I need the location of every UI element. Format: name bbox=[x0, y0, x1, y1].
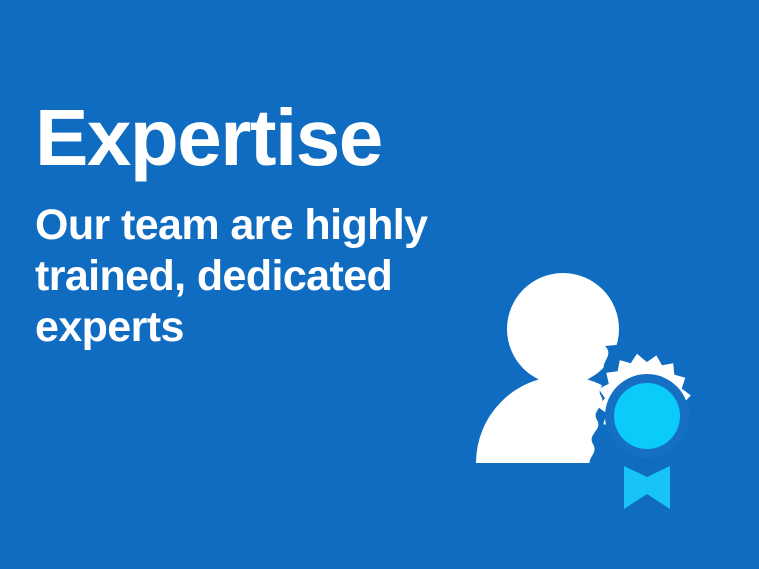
badge-ribbon-shape bbox=[624, 466, 670, 509]
expert-person-award-icon bbox=[455, 258, 725, 528]
slide-subtitle: Our team are highly trained, dedicated e… bbox=[35, 200, 465, 353]
slide-canvas: Expertise Our team are highly trained, d… bbox=[0, 0, 759, 569]
page-title: Expertise bbox=[35, 96, 505, 180]
badge-center-shape bbox=[614, 383, 680, 449]
text-block: Expertise Our team are highly trained, d… bbox=[35, 96, 505, 353]
person-head-shape bbox=[507, 273, 619, 385]
